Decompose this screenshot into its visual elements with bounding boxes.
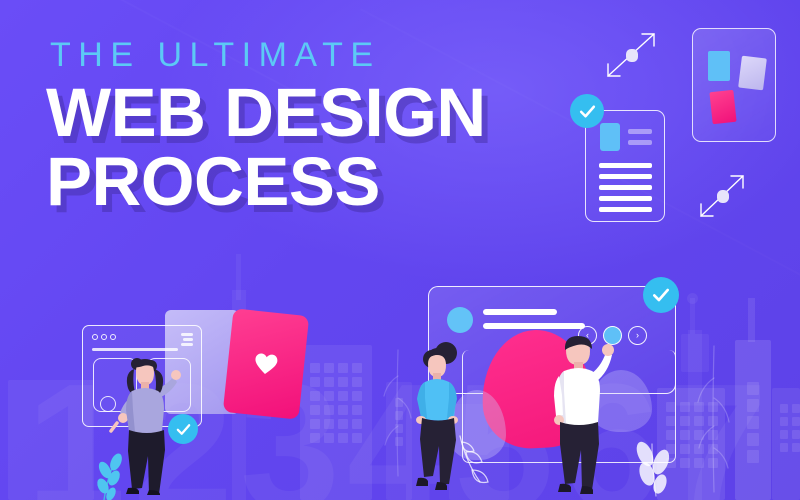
menu-line[interactable] [183,338,193,341]
resize-arrow-bottom [695,170,751,222]
page-title-line-2: PROCESS [46,149,586,215]
check-badge [168,414,198,444]
headline-kicker: THE ULTIMATE [50,38,586,72]
check-badge [643,277,679,313]
cursor-ring [100,396,116,412]
blue-swatch [708,51,730,81]
leaf-sprig-white-right [626,428,682,500]
pink-swatch [709,90,736,124]
menu-line[interactable] [181,333,193,336]
headline-block: THE ULTIMATE WEB DESIGN PROCESS [46,38,586,214]
bare-branch [376,346,420,476]
window-dot [101,334,107,340]
document-text-line [599,163,652,168]
window-dot [110,334,116,340]
poster-canvas: 1 2 3 4 5 6 7 THE ULTIMATE WEB DESIGN PR… [0,0,800,500]
window-dot [92,334,98,340]
resize-arrow-top [602,28,662,82]
nav-next[interactable]: › [628,326,647,345]
chevron-right-icon: › [636,331,639,340]
document-text-line [599,185,652,190]
heart-card [223,308,309,419]
heart-icon [253,352,279,376]
document-card [585,110,665,222]
document-thumbnail [600,123,620,151]
avatar [447,307,473,333]
lavender-swatch [738,56,767,91]
leaf-sprig-white-left [452,432,502,498]
screen-text-line [483,323,585,329]
document-text-line [599,174,652,179]
document-mini-line [628,140,652,145]
screen-text-line [483,309,557,315]
document-text-line [599,196,652,201]
leaf-sprig-blue [92,448,136,500]
document-mini-line [628,129,652,134]
address-bar[interactable] [92,348,178,351]
check-badge [570,94,604,128]
document-text-line [599,207,652,212]
bare-branch [688,342,736,492]
page-title-line-1: WEB DESIGN [46,80,586,146]
presenter-man [544,332,616,492]
swatch-panel [692,28,776,142]
menu-line[interactable] [181,343,193,346]
